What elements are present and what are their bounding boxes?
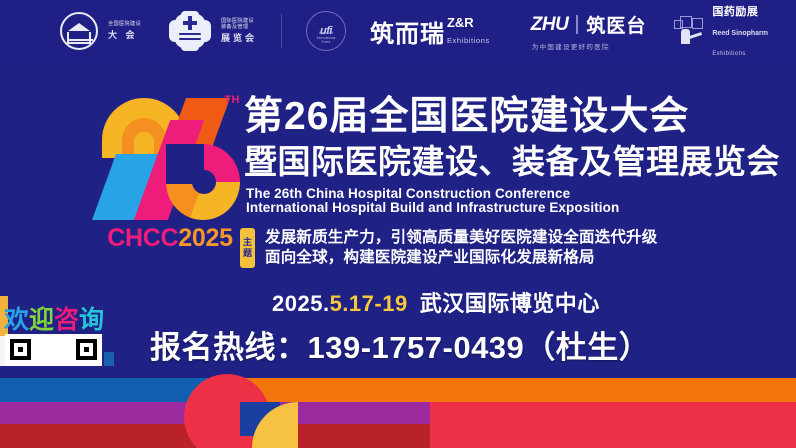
theme-badge-char-2: 题 [243,248,252,259]
ufi-subtext-3: Event [322,40,331,44]
chcc-prefix: CHCC [107,224,178,252]
zhu-divider [576,15,578,34]
welcome-char-2: 迎 [29,306,54,334]
reed-english-name: Reed Sinopharm [712,30,768,37]
band-navy [0,366,796,378]
exhibition-emblem-text: 国际医院建设 装备及管理 展览会 [221,19,257,43]
welcome-char-1: 欢 [4,306,29,334]
header-left-logos: 全国医院建设 大 会 国际医院建设 装备及管理 展览会 ufi Approved… [60,11,490,51]
number-26-graphic: TH [96,92,244,220]
qr-finder-top-left [10,339,31,360]
theme-badge-char-1: 主 [243,237,252,248]
page-title-chinese-line1: 第26届全国医院建设大会 [244,97,689,136]
header-right-logos: ZHU 筑医台 为中国建设更好的医院 国药励展 Reed Sinopharm E… [531,1,768,61]
theme-line-1: 发展新质生产力，引领高质量美好医院建设全面迭代升级 [265,228,658,248]
header-divider [281,14,282,48]
event-date-venue: 2025.5.17-19武汉国际博览中心 [272,286,600,318]
reed-chinese-name: 国药励展 [712,6,758,18]
chcc-wordmark: CHCC2025 [96,224,244,253]
zhu-slogan: 为中国建设更好的医院 [532,41,610,51]
snowflake-medical-icon [169,11,211,51]
chcc-logo: TH CHCC2025 [96,92,244,262]
event-year: 2025. [272,291,330,316]
zr-english-name: Z&R [447,15,474,30]
theme-badge: 主 题 [240,228,255,268]
band-red-right [430,402,796,448]
zr-english-sub: Exhibitions [447,36,490,45]
header-logo-bar: 全国医院建设 大 会 国际医院建设 装备及管理 展览会 ufi Approved… [0,0,796,62]
ufi-approved-icon: ufi Approved International Event [306,11,346,51]
theme-line-2: 面向全球，构建医院建设产业国际化发展新格局 [265,248,658,268]
event-venue: 武汉国际博览中心 [420,291,600,316]
exhibition-emblem-title: 展览会 [221,33,257,43]
conference-emblem-title: 大 会 [108,30,141,40]
ufi-subtext: Approved International Event [307,31,345,45]
reed-english-sub: Exhibitions [712,51,745,57]
theme-block: 主 题 发展新质生产力，引领高质量美好医院建设全面迭代升级 面向全球，构建医院建… [240,228,658,269]
welcome-char-4: 询 [79,306,104,334]
ufi-subtext-2: International [317,36,336,40]
conference-poster: 全国医院建设 大 会 国际医院建设 装备及管理 展览会 ufi Approved… [0,0,796,448]
reed-sinopharm-logo: 国药励展 Reed Sinopharm Exhibitions [672,1,768,61]
page-title-english-line2: International Hospital Build and Infrast… [246,200,619,215]
welcome-text: 欢迎咨询 [4,300,104,336]
page-title-english-line1: The 26th China Hospital Construction Con… [246,186,570,201]
exhibition-emblem-subtitle-2: 装备及管理 [221,25,257,31]
zhu-chinese: 筑医台 [586,11,646,38]
zhu-logo: ZHU 筑医台 为中国建设更好的医院 [531,11,647,51]
zr-exhibitions-logo: 筑而瑞 Z&R Exhibitions [370,14,490,49]
registration-hotline: 报名热线：139-1757-0439（杜生） [150,322,650,367]
zr-chinese-name: 筑而瑞 [370,14,445,49]
welcome-char-3: 咨 [54,306,79,334]
zhu-latin: ZHU [531,14,569,36]
conference-emblem-subtitle: 全国医院建设 [108,22,141,28]
bottom-decorative-bands [0,366,796,448]
chcc-year: 2025 [178,224,232,252]
ordinal-suffix: TH [224,94,240,106]
page-title-chinese-line2: 暨国际医院建设、装备及管理展览会 [244,145,780,178]
reed-mark-icon [672,16,706,46]
ufi-subtext-1: Approved [319,31,334,35]
circular-seal-icon [60,12,98,50]
event-date-range: 5.17-19 [330,291,408,316]
qr-finder-top-right [76,339,97,360]
conference-emblem-text: 全国医院建设 大 会 [108,22,141,40]
